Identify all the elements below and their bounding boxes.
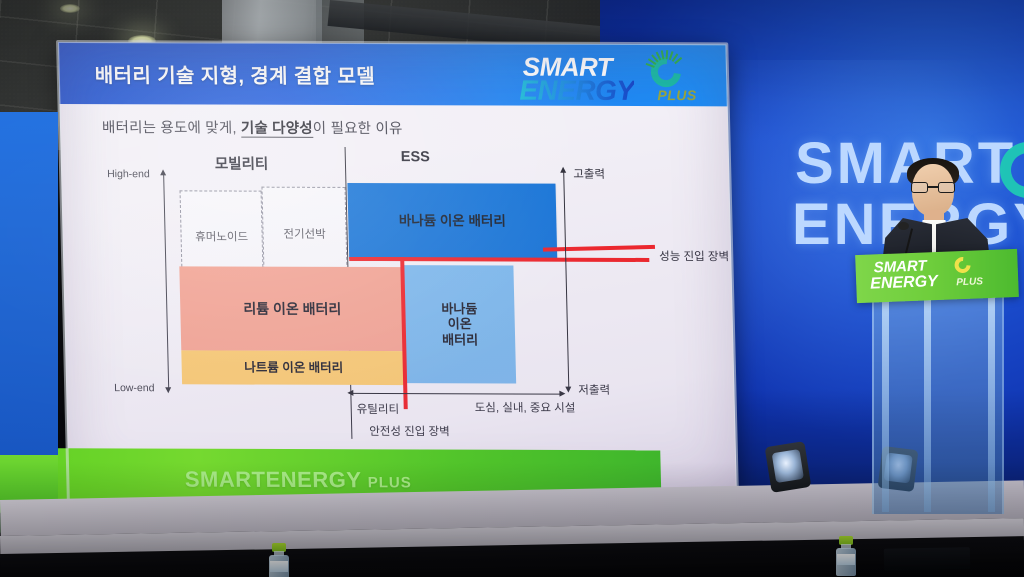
power-axis <box>563 172 569 388</box>
axis-label-low-power: 저출력 <box>578 382 610 398</box>
performance-barrier-line <box>349 257 649 262</box>
podium-leg <box>882 296 889 512</box>
block-vanadium-ion-battery-low: 바나듐 이온 배터리 <box>403 265 516 383</box>
microphone-head <box>898 222 909 230</box>
stage-banner-plus: PLUS <box>368 474 412 491</box>
notebook-on-table <box>884 547 970 570</box>
vanadium-light-line-3: 배터리 <box>442 332 478 347</box>
ess-x-axis <box>352 393 560 395</box>
slide-subtitle: 배터리는 용도에 맞게, 기술 다양성이 필요한 이유 <box>102 116 403 138</box>
block-sodium-ion-battery: 나트륨 이온 배터리 <box>181 350 406 385</box>
axis-label-utility: 유틸리티 <box>357 401 400 417</box>
axis-label-high-end: High-end <box>107 168 150 180</box>
axis-label-low-end: Low-end <box>114 382 155 394</box>
axis-label-urban-indoor: 도심, 실내, 중요 시설 <box>475 399 576 415</box>
logo-sunburst-icon <box>642 49 689 93</box>
podium-plus-text: PLUS <box>956 276 983 288</box>
stage-banner-energy: ENERGY <box>265 467 361 492</box>
battery-positioning-chart: 모빌리티 ESS 휴머노이드 전기선박 바나듐 이온 배터리 리튬 이온 배터리… <box>100 146 698 478</box>
podium: SMART ENERGY PLUS <box>848 252 1024 514</box>
conference-photo-scene: SMART ENERGY 배터리 기술 지형, 경계 결합 모델 SMART E… <box>0 0 1024 577</box>
logo-energy-text: ENERGY <box>519 75 635 107</box>
column-header-ess: ESS <box>401 149 430 165</box>
axis-label-high-power: 고출력 <box>573 166 605 182</box>
water-bottle <box>835 536 857 576</box>
vanadium-light-line-1: 바나듐 <box>441 301 477 316</box>
ceiling-light-fixture-secondary <box>60 4 80 13</box>
performance-barrier-line-extension <box>543 245 655 252</box>
glasses-icon <box>911 182 955 193</box>
projection-screen: 배터리 기술 지형, 경계 결합 모델 SMART ENERGY PLUS <box>58 42 737 492</box>
stage-banner-smart: SMART <box>184 467 265 492</box>
stage-banner-text: SMARTENERGY PLUS <box>184 467 412 494</box>
podium-energy-text: ENERGY <box>870 273 938 294</box>
water-bottle <box>268 543 290 577</box>
annotation-performance-barrier: 성능 진입 장벽 <box>659 248 729 264</box>
podium-sunburst-icon <box>949 252 976 277</box>
slide-logo: SMART ENERGY PLUS <box>516 49 714 112</box>
block-lithium-ion-battery: 리튬 이온 배터리 <box>179 266 405 351</box>
slide-surface: 배터리 기술 지형, 경계 결합 모델 SMART ENERGY PLUS <box>58 42 737 492</box>
y-axis-endpoint <box>163 174 169 388</box>
column-header-mobility: 모빌리티 <box>215 153 269 174</box>
subtitle-emphasis: 기술 다양성 <box>241 121 313 138</box>
podium-leg <box>988 296 995 512</box>
podium-leg <box>924 296 931 512</box>
podium-sign: SMART ENERGY PLUS <box>855 249 1019 303</box>
vanadium-light-line-2: 이온 <box>448 317 472 332</box>
stage-light-left <box>765 441 812 493</box>
subtitle-part-1: 배터리는 용도에 맞게, <box>102 120 241 136</box>
slide-title: 배터리 기술 지형, 경계 결합 모델 <box>94 59 375 89</box>
subtitle-part-2: 이 필요한 이유 <box>313 121 403 137</box>
annotation-safety-barrier: 안전성 진입 장벽 <box>369 423 450 439</box>
block-vanadium-ion-battery-high: 바나듐 이온 배터리 <box>347 183 557 260</box>
podium-body <box>872 296 1004 514</box>
